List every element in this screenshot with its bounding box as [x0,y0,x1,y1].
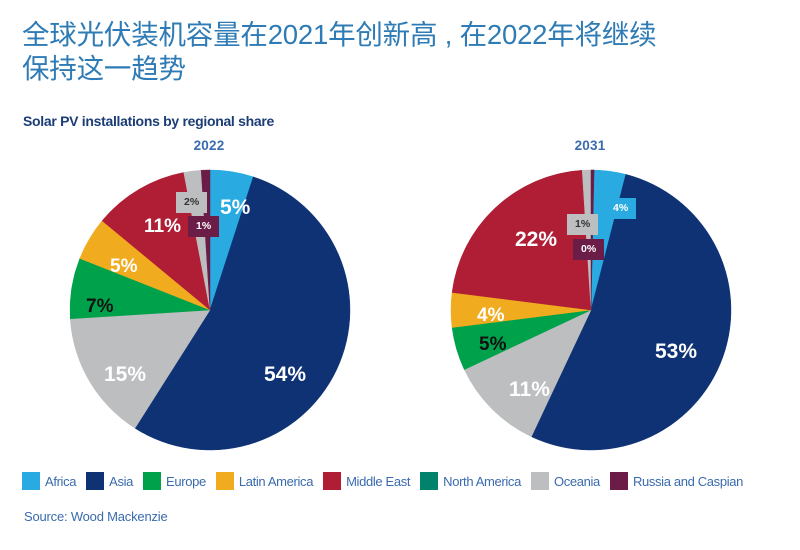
pie-chart-2022 [68,168,352,452]
legend-color-swatch [610,472,628,490]
legend-item-label: Africa [45,474,76,489]
legend-color-swatch [216,472,234,490]
legend-item[interactable]: Asia [86,472,133,490]
chart-page: 全球光伏装机容量在2021年创新高 , 在2022年将继续 保持这一趋势 Sol… [0,0,800,550]
legend-item[interactable]: Europe [143,472,206,490]
legend-item-label: Russia and Caspian [633,474,743,489]
legend-item[interactable]: Oceania [531,472,600,490]
legend-item-label: Middle East [346,474,410,489]
legend-item-label: Asia [109,474,133,489]
source-note: Source: Wood Mackenzie [24,509,168,524]
legend-item-label: North America [443,474,521,489]
pie-slice[interactable] [452,170,591,310]
legend-color-swatch [323,472,341,490]
page-title: 全球光伏装机容量在2021年创新高 , 在2022年将继续 保持这一趋势 [22,18,767,86]
legend-color-swatch [531,472,549,490]
pie-year-label-2022: 2022 [62,138,356,153]
legend-item[interactable]: Africa [22,472,76,490]
legend-color-swatch [420,472,438,490]
legend-item[interactable]: Russia and Caspian [610,472,743,490]
legend-item[interactable]: Latin America [216,472,313,490]
legend: AfricaAsiaEuropeLatin AmericaMiddle East… [22,470,750,492]
legend-item-label: Europe [166,474,206,489]
chart-subtitle: Solar PV installations by regional share [23,113,274,129]
legend-color-swatch [86,472,104,490]
pie-chart-2031 [449,168,733,452]
legend-item-label: Oceania [554,474,600,489]
pie-year-label-2031: 2031 [443,138,737,153]
legend-color-swatch [143,472,161,490]
legend-item-label: Latin America [239,474,313,489]
legend-color-swatch [22,472,40,490]
legend-item[interactable]: North America [420,472,521,490]
legend-item[interactable]: Middle East [323,472,410,490]
